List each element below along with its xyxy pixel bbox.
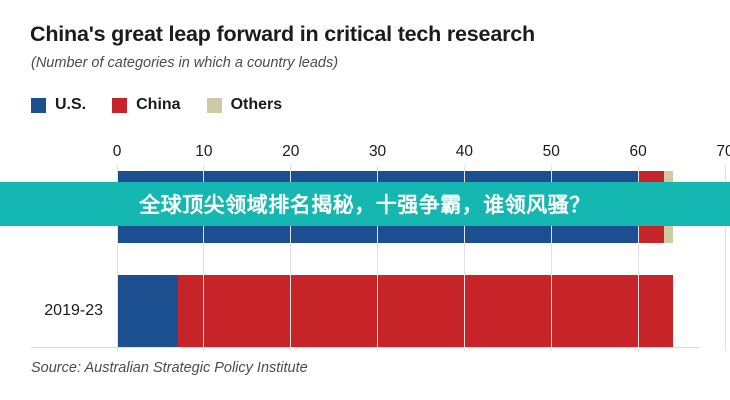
overlay-banner-text: 全球顶尖领域排名揭秘，十强争霸，谁领风骚？ (139, 189, 591, 219)
bar-segment (117, 275, 178, 347)
bar-row: 2019-23 (117, 275, 725, 347)
source-note: Source: Australian Strategic Policy Inst… (31, 360, 308, 376)
x-axis-tick: 30 (369, 143, 386, 161)
chart-screenshot: China's great leap forward in critical t… (0, 0, 730, 400)
chart-legend: U.S. China Others (31, 96, 282, 114)
page-title: China's great leap forward in critical t… (30, 22, 535, 47)
plot-area: 010203040506070 2003-072019-23 (117, 143, 725, 351)
x-axis-tick: 50 (543, 143, 560, 161)
y-axis-label: 2019-23 (44, 302, 103, 320)
x-axis-tick: 60 (630, 143, 647, 161)
x-axis-tick: 10 (195, 143, 212, 161)
legend-item-others: Others (207, 96, 283, 114)
x-axis-tick: 70 (716, 143, 730, 161)
legend-item-us: U.S. (31, 96, 86, 114)
x-axis-tick: 20 (282, 143, 299, 161)
legend-item-china: China (112, 96, 180, 114)
x-axis: 010203040506070 (117, 143, 725, 165)
chart-subtitle: (Number of categories in which a country… (31, 55, 338, 71)
legend-label-us: U.S. (55, 96, 86, 114)
footer-divider (31, 347, 699, 348)
legend-label-china: China (136, 96, 180, 114)
legend-swatch-us (31, 98, 46, 113)
x-axis-tick: 0 (113, 143, 122, 161)
legend-swatch-others (207, 98, 222, 113)
x-axis-tick: 40 (456, 143, 473, 161)
legend-label-others: Others (231, 96, 283, 114)
overlay-banner: 全球顶尖领域排名揭秘，十强争霸，谁领风骚？ (0, 182, 730, 226)
bar-segment (178, 275, 673, 347)
legend-swatch-china (112, 98, 127, 113)
